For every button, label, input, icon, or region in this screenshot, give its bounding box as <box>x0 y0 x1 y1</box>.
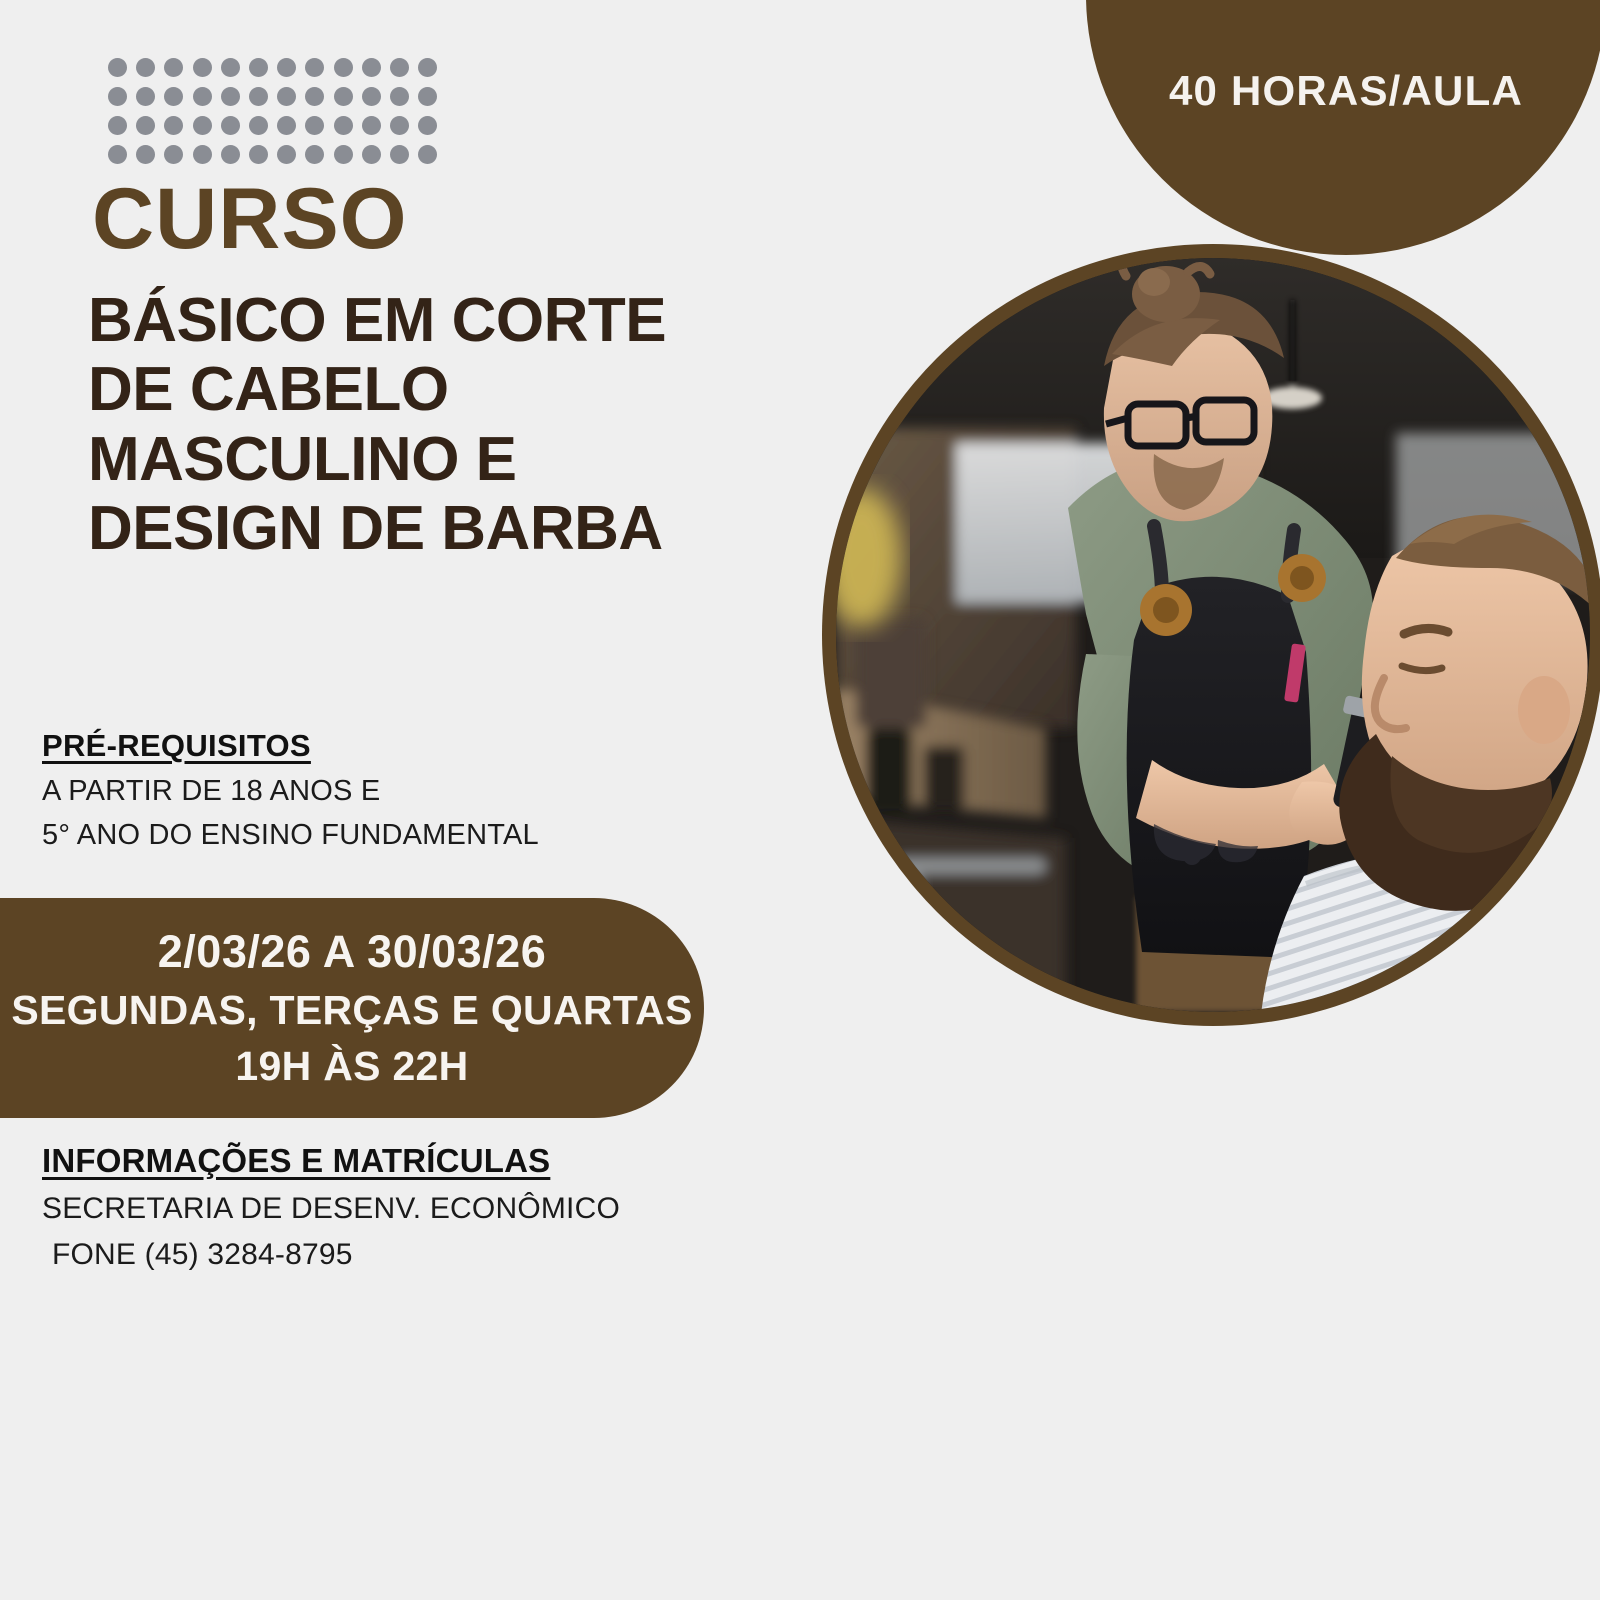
dot-grid-decoration <box>108 58 446 174</box>
grid-dot <box>277 116 296 135</box>
enrollment-phone: FONE (45) 3284-8795 <box>42 1238 742 1272</box>
grid-dot <box>136 116 155 135</box>
grid-dot <box>136 58 155 77</box>
grid-dot <box>221 116 240 135</box>
grid-dot <box>249 145 268 164</box>
grid-dot <box>277 87 296 106</box>
grid-dot <box>136 87 155 106</box>
grid-dot <box>164 116 183 135</box>
grid-dot <box>108 145 127 164</box>
schedule-time: 19H ÀS 22H <box>235 1043 468 1090</box>
enrollment-department: SECRETARIA DE DESENV. ECONÔMICO <box>42 1192 742 1226</box>
grid-dot <box>249 58 268 77</box>
grid-dot <box>164 58 183 77</box>
poster-canvas: 40 HORAS/AULA <box>0 0 1600 1600</box>
grid-dot <box>390 87 409 106</box>
grid-dot <box>305 116 324 135</box>
grid-dot <box>305 87 324 106</box>
enrollment-section: INFORMAÇÕES E MATRÍCULAS SECRETARIA DE D… <box>42 1142 742 1272</box>
grid-dot <box>221 145 240 164</box>
grid-dot <box>305 145 324 164</box>
schedule-days: SEGUNDAS, TERÇAS E QUARTAS <box>11 987 692 1034</box>
grid-dot <box>193 145 212 164</box>
page-title-line-2: DE CABELO <box>88 355 848 424</box>
grid-dot <box>164 145 183 164</box>
grid-dot <box>418 87 437 106</box>
grid-dot <box>249 116 268 135</box>
hours-badge: 40 HORAS/AULA <box>1086 0 1600 255</box>
page-title-line-1: BÁSICO EM CORTE <box>88 286 848 355</box>
grid-dot <box>108 116 127 135</box>
grid-dot <box>305 58 324 77</box>
grid-dot <box>418 58 437 77</box>
grid-dot <box>277 58 296 77</box>
grid-dot <box>136 145 155 164</box>
grid-dot <box>221 58 240 77</box>
prerequisite-line-2: 5° ANO DO ENSINO FUNDAMENTAL <box>42 819 682 852</box>
prerequisites-section: PRÉ-REQUISITOS A PARTIR DE 18 ANOS E 5° … <box>42 728 682 852</box>
page-title-line-4: DESIGN DE BARBA <box>88 494 848 563</box>
grid-dot <box>390 145 409 164</box>
grid-dot <box>418 145 437 164</box>
prerequisites-heading: PRÉ-REQUISITOS <box>42 728 682 764</box>
schedule-banner: 2/03/26 A 30/03/26 SEGUNDAS, TERÇAS E QU… <box>0 898 704 1118</box>
page-eyebrow: CURSO <box>92 176 408 262</box>
grid-dot <box>390 58 409 77</box>
grid-dot <box>362 87 381 106</box>
hours-badge-label: 40 HORAS/AULA <box>1086 67 1600 115</box>
grid-dot <box>193 116 212 135</box>
grid-dot <box>390 116 409 135</box>
page-title: BÁSICO EM CORTEDE CABELOMASCULINO EDESIG… <box>88 286 848 564</box>
grid-dot <box>164 87 183 106</box>
page-title-line-3: MASCULINO E <box>88 425 848 494</box>
grid-dot <box>334 58 353 77</box>
barbershop-photo <box>836 258 1590 1012</box>
grid-dot <box>221 87 240 106</box>
enrollment-heading: INFORMAÇÕES E MATRÍCULAS <box>42 1142 742 1180</box>
grid-dot <box>334 145 353 164</box>
grid-dot <box>108 58 127 77</box>
grid-dot <box>108 87 127 106</box>
footer-logos: Fecomércio PR Sesc Senac IFPD Senac Secr… <box>0 1400 1600 1600</box>
schedule-dates: 2/03/26 A 30/03/26 <box>158 926 546 978</box>
grid-dot <box>362 116 381 135</box>
grid-dot <box>362 58 381 77</box>
grid-dot <box>418 116 437 135</box>
grid-dot <box>334 87 353 106</box>
grid-dot <box>277 145 296 164</box>
grid-dot <box>193 58 212 77</box>
grid-dot <box>362 145 381 164</box>
prerequisite-line-1: A PARTIR DE 18 ANOS E <box>42 775 682 808</box>
grid-dot <box>249 87 268 106</box>
grid-dot <box>193 87 212 106</box>
grid-dot <box>334 116 353 135</box>
